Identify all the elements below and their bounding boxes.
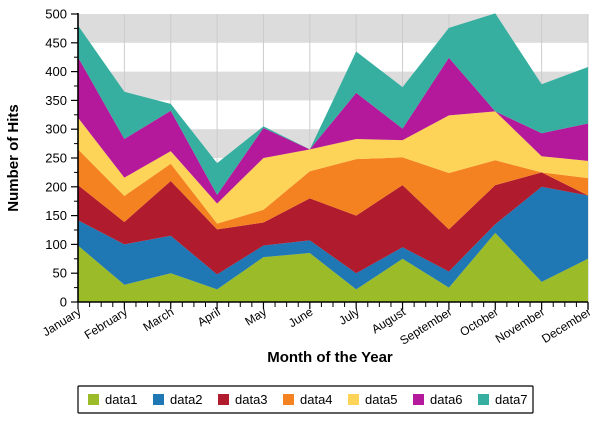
- x-axis-tick-label: March: [141, 305, 177, 335]
- legend-label-data1[interactable]: data1: [105, 392, 138, 407]
- y-axis-tick-label: 100: [45, 237, 67, 252]
- y-axis-tick-label: 200: [45, 179, 67, 194]
- legend-swatch-data2[interactable]: [153, 394, 164, 405]
- x-axis-tick-label: July: [336, 305, 362, 328]
- legend-label-data3[interactable]: data3: [235, 392, 268, 407]
- x-axis-tick-label: May: [242, 305, 269, 329]
- legend-swatch-data6[interactable]: [413, 394, 424, 405]
- y-axis-tick-label: 450: [45, 35, 67, 50]
- y-axis-title: Number of Hits: [5, 104, 22, 212]
- y-axis-tick-label: 350: [45, 93, 67, 108]
- area-chart: 050100150200250300350400450500 JanuaryFe…: [0, 0, 601, 431]
- legend-swatch-data4[interactable]: [283, 394, 294, 405]
- legend-swatch-data3[interactable]: [218, 394, 229, 405]
- legend-label-data5[interactable]: data5: [365, 392, 398, 407]
- x-axis-tick-label: November: [493, 305, 547, 346]
- x-axis-ticks: [78, 302, 588, 309]
- y-axis-ticks: [71, 14, 78, 302]
- y-axis-tick-label: 250: [45, 151, 67, 166]
- legend-swatch-data5[interactable]: [348, 394, 359, 405]
- x-axis-tick-label: December: [539, 305, 593, 346]
- legend-label-data2[interactable]: data2: [170, 392, 203, 407]
- legend-swatch-data7[interactable]: [478, 394, 489, 405]
- y-axis-tick-label: 50: [53, 266, 67, 281]
- x-axis-title: Month of the Year: [267, 349, 393, 366]
- legend-swatch-data1[interactable]: [88, 394, 99, 405]
- x-axis-tick-label: June: [286, 305, 316, 331]
- y-axis-tick-label: 400: [45, 64, 67, 79]
- chart-canvas: 050100150200250300350400450500 JanuaryFe…: [0, 0, 601, 431]
- x-axis-tick-label: January: [40, 305, 84, 340]
- y-axis-tick-labels: 050100150200250300350400450500: [45, 7, 67, 310]
- y-axis-tick-label: 500: [45, 7, 67, 22]
- x-axis-tick-label: September: [397, 305, 454, 348]
- x-axis-tick-labels: JanuaryFebruaryMarchAprilMayJuneJulyAugu…: [40, 304, 594, 347]
- x-axis-tick-label: April: [195, 305, 223, 330]
- legend-label-data4[interactable]: data4: [300, 392, 333, 407]
- y-axis-tick-label: 150: [45, 208, 67, 223]
- legend-label-data6[interactable]: data6: [430, 392, 463, 407]
- y-axis-tick-label: 0: [60, 295, 67, 310]
- chart-legend: data1data2data3data4data5data6data7: [78, 386, 533, 413]
- x-axis-tick-label: February: [82, 305, 130, 342]
- y-axis-tick-label: 300: [45, 122, 67, 137]
- stacked-areas: [78, 13, 588, 302]
- legend-label-data7[interactable]: data7: [495, 392, 528, 407]
